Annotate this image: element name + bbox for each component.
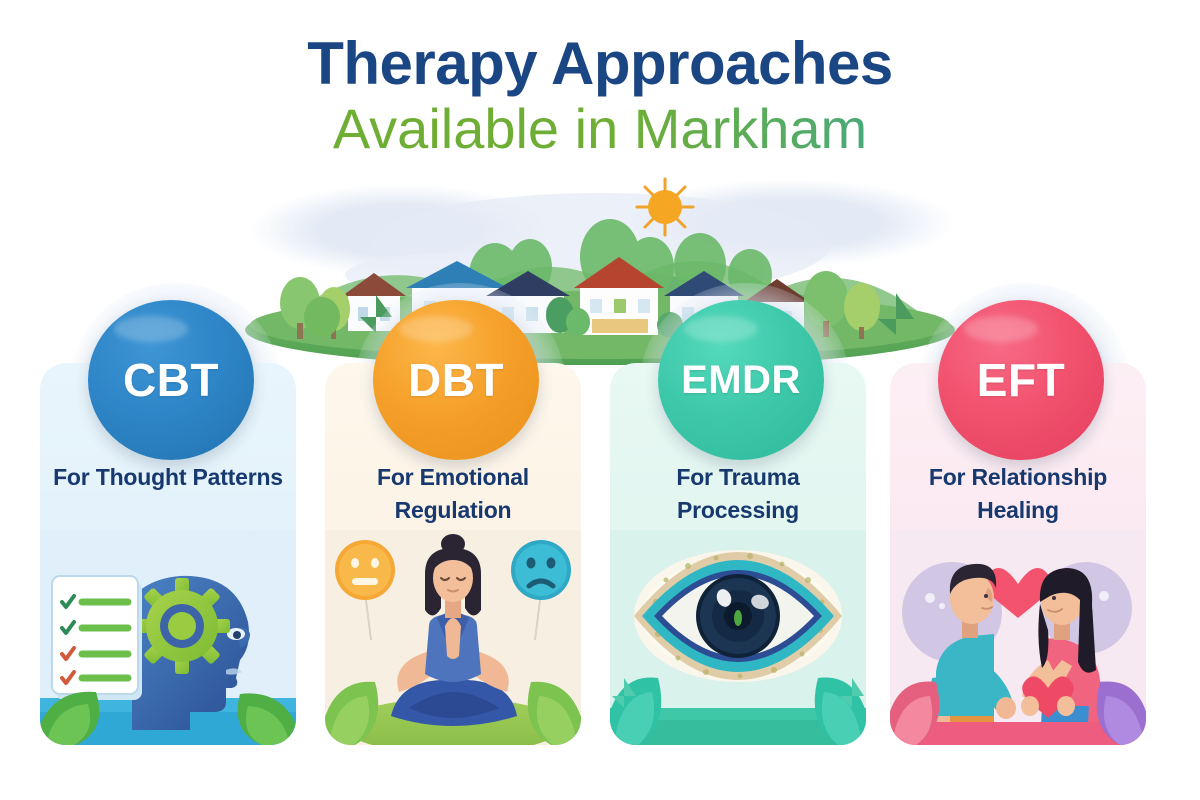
stylized-eye-illustration: [610, 530, 866, 745]
badge-text-cbt: CBT: [123, 353, 219, 407]
page-title: Therapy Approaches Available in Markham: [0, 32, 1200, 159]
head-with-gear-and-checklist-illustration: [40, 530, 296, 745]
couple-with-heart-illustration: [890, 530, 1146, 745]
title-line-secondary: Available in Markham: [0, 98, 1200, 160]
badge-gloss: [684, 316, 758, 342]
card-label-eft: For Relationship Healing: [898, 461, 1138, 526]
infographic-canvas: Therapy Approaches Available in Markham: [0, 0, 1200, 800]
meditating-woman-with-emotion-faces-illustration: [325, 530, 581, 745]
card-label-dbt: For Emotional Regulation: [333, 461, 573, 526]
title-line-primary: Therapy Approaches: [0, 32, 1200, 96]
badge-gloss: [964, 316, 1038, 342]
badge-text-eft: EFT: [977, 353, 1065, 407]
badge-emdr[interactable]: EMDR: [658, 300, 824, 460]
badge-gloss: [114, 316, 188, 342]
markham-town-illustration: [230, 175, 970, 365]
badge-eft[interactable]: EFT: [938, 300, 1104, 460]
badge-text-dbt: DBT: [408, 353, 504, 407]
therapy-cards-row: For Thought Patterns: [0, 363, 1200, 763]
badge-dbt[interactable]: DBT: [373, 300, 539, 460]
card-label-emdr: For Trauma Processing: [618, 461, 858, 526]
badge-text-emdr: EMDR: [681, 358, 801, 403]
card-label-cbt: For Thought Patterns: [48, 461, 288, 494]
badge-gloss: [399, 316, 473, 342]
badge-cbt[interactable]: CBT: [88, 300, 254, 460]
